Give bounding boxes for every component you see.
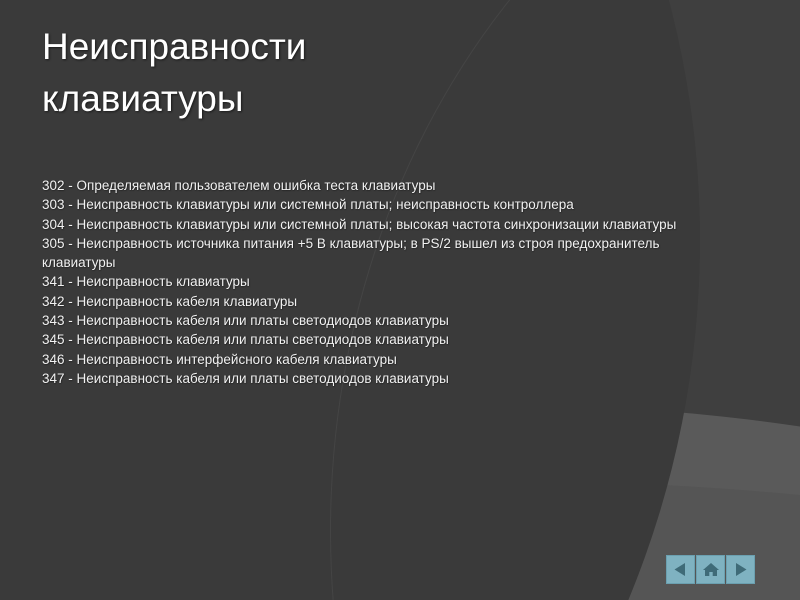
slide-navigation [666, 555, 755, 584]
list-item: 345 - Неисправность кабеля или платы све… [42, 330, 694, 349]
list-item: 342 - Неисправность кабеля клавиатуры [42, 292, 694, 311]
list-item: 305 - Неисправность источника питания +5… [42, 234, 694, 273]
previous-slide-button[interactable] [666, 555, 695, 584]
list-item: 343 - Неисправность кабеля или платы све… [42, 311, 694, 330]
list-item: 304 - Неисправность клавиатуры или систе… [42, 215, 694, 234]
presentation-slide: Неисправности клавиатуры 302 - Определяе… [0, 0, 800, 600]
list-item: 303 - Неисправность клавиатуры или систе… [42, 195, 694, 214]
error-code-list: 302 - Определяемая пользователем ошибка … [42, 176, 694, 388]
slide-title: Неисправности клавиатуры [42, 21, 472, 125]
slide-content: Неисправности клавиатуры 302 - Определяе… [0, 0, 800, 600]
list-item: 347 - Неисправность кабеля или платы све… [42, 369, 694, 388]
list-item: 302 - Определяемая пользователем ошибка … [42, 176, 694, 195]
home-button[interactable] [696, 555, 725, 584]
next-slide-icon [732, 561, 749, 578]
home-icon [702, 561, 720, 578]
list-item: 346 - Неисправность интерфейсного кабеля… [42, 350, 694, 369]
list-item: 341 - Неисправность клавиатуры [42, 272, 694, 291]
next-slide-button[interactable] [726, 555, 755, 584]
previous-slide-icon [672, 561, 689, 578]
